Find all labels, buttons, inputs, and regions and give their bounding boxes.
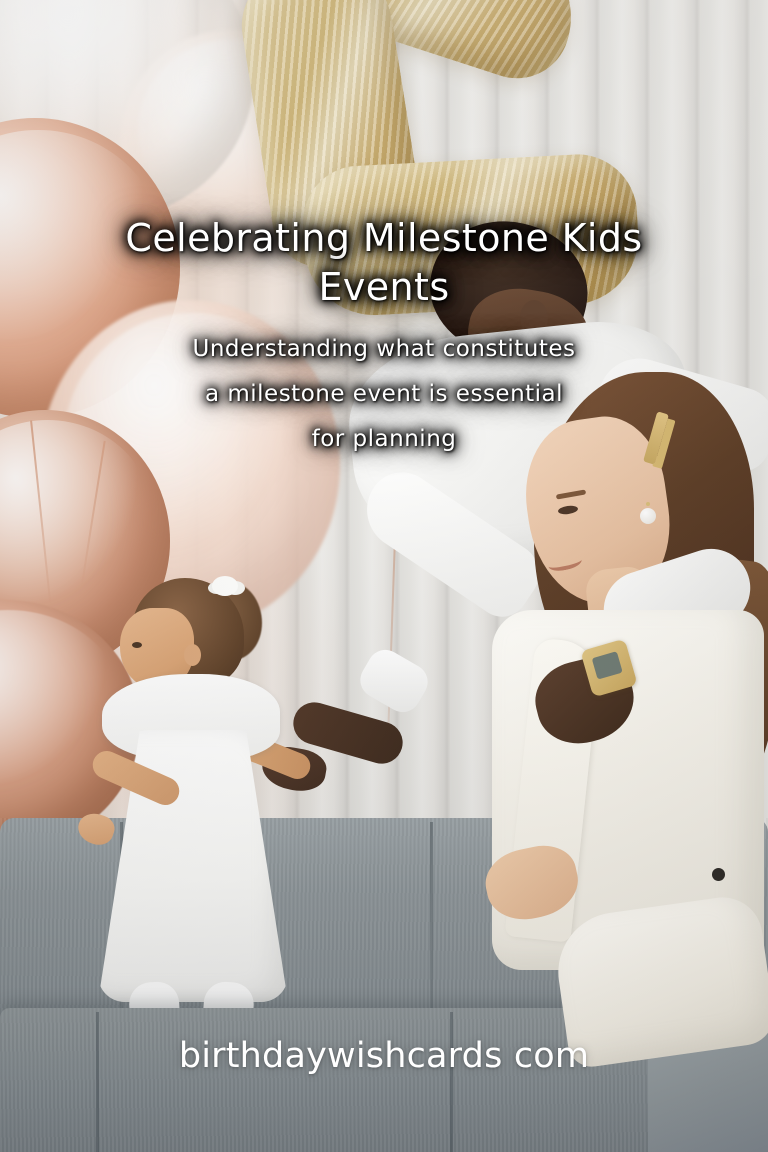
sofa-seat-seam-1 <box>96 1012 99 1152</box>
brand-watermark: birthdaywishcards com <box>0 1036 768 1076</box>
background-photo <box>0 0 768 1152</box>
woman-earring <box>640 508 656 524</box>
toddler-ear <box>184 644 201 666</box>
sofa-cushion-seam-2 <box>430 822 433 1022</box>
pinterest-pin-graphic: Celebrating Milestone Kids Events Unders… <box>0 0 768 1152</box>
sofa-seat-seam-2 <box>450 1012 453 1152</box>
toddler-hair-bow <box>212 576 238 596</box>
toddler-eye <box>132 642 142 648</box>
woman-blazer-button <box>712 868 725 881</box>
